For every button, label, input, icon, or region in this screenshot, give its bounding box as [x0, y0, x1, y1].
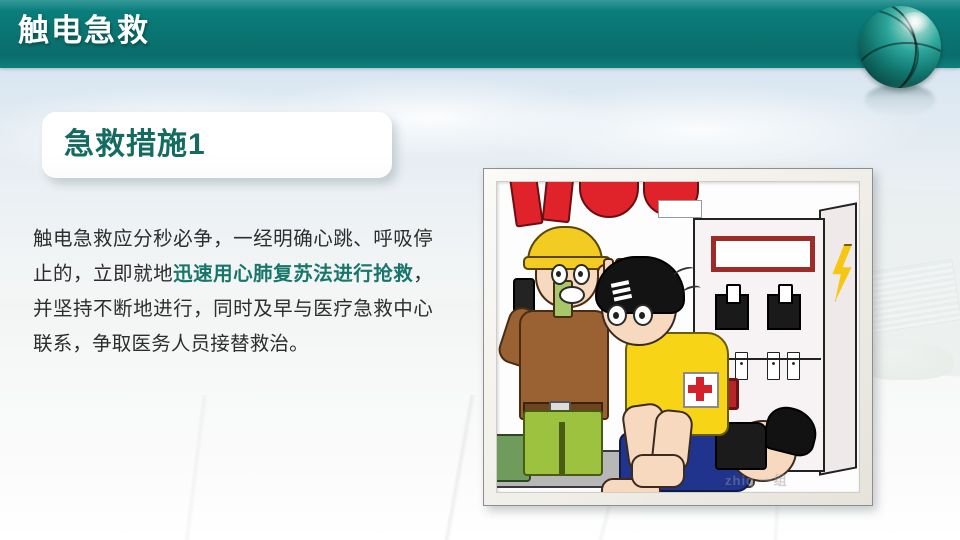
image-watermark: zhiq 一组: [725, 470, 788, 489]
switchboard-fuse-3: [767, 352, 780, 380]
worker-eye-right: [573, 264, 590, 285]
body-segment-highlight: 迅速用心肺复苏法进行抢救: [173, 263, 413, 285]
red-headline-letters: [511, 181, 701, 226]
switchboard-breaker-1: [715, 294, 749, 330]
small-label-overlay: [658, 200, 702, 218]
medic-compression-hands: [631, 454, 685, 488]
illustration-canvas: zhiq 一组: [496, 181, 860, 493]
sphere-reflection: [865, 84, 935, 116]
switchboard-fuse-2: [735, 352, 748, 380]
body-paragraph: 触电急救应分秒必争，一经明确心跳、呼吸停止的，立即就地迅速用心肺复苏法进行抢救，…: [33, 222, 433, 362]
yellow-hardhat-icon: [527, 226, 603, 270]
header-bar: 触电急救: [0, 0, 960, 68]
switchboard-breaker-2: [767, 294, 801, 330]
section-badge: 急救措施1: [42, 112, 392, 178]
medic-eye-left: [607, 304, 627, 326]
red-cross-armband-icon: [683, 372, 719, 408]
worker-mouth: [559, 286, 585, 304]
page-title: 触电急救: [18, 9, 150, 53]
section-badge-label: 急救措施1: [64, 122, 206, 168]
worker-eye-left: [551, 264, 568, 285]
medic-eye-right: [633, 304, 653, 326]
glossy-teal-sphere-icon: [855, 6, 947, 114]
worker-legs: [523, 410, 603, 476]
switchboard-fuse-4: [787, 352, 800, 380]
slide-canvas: 触电急救 急救措施1 触电急救应分秒必争，一经明确心跳、呼吸停止的，立即就地迅速…: [0, 0, 960, 540]
switchboard-display: [711, 236, 815, 272]
illustration-frame: zhiq 一组: [483, 168, 873, 506]
